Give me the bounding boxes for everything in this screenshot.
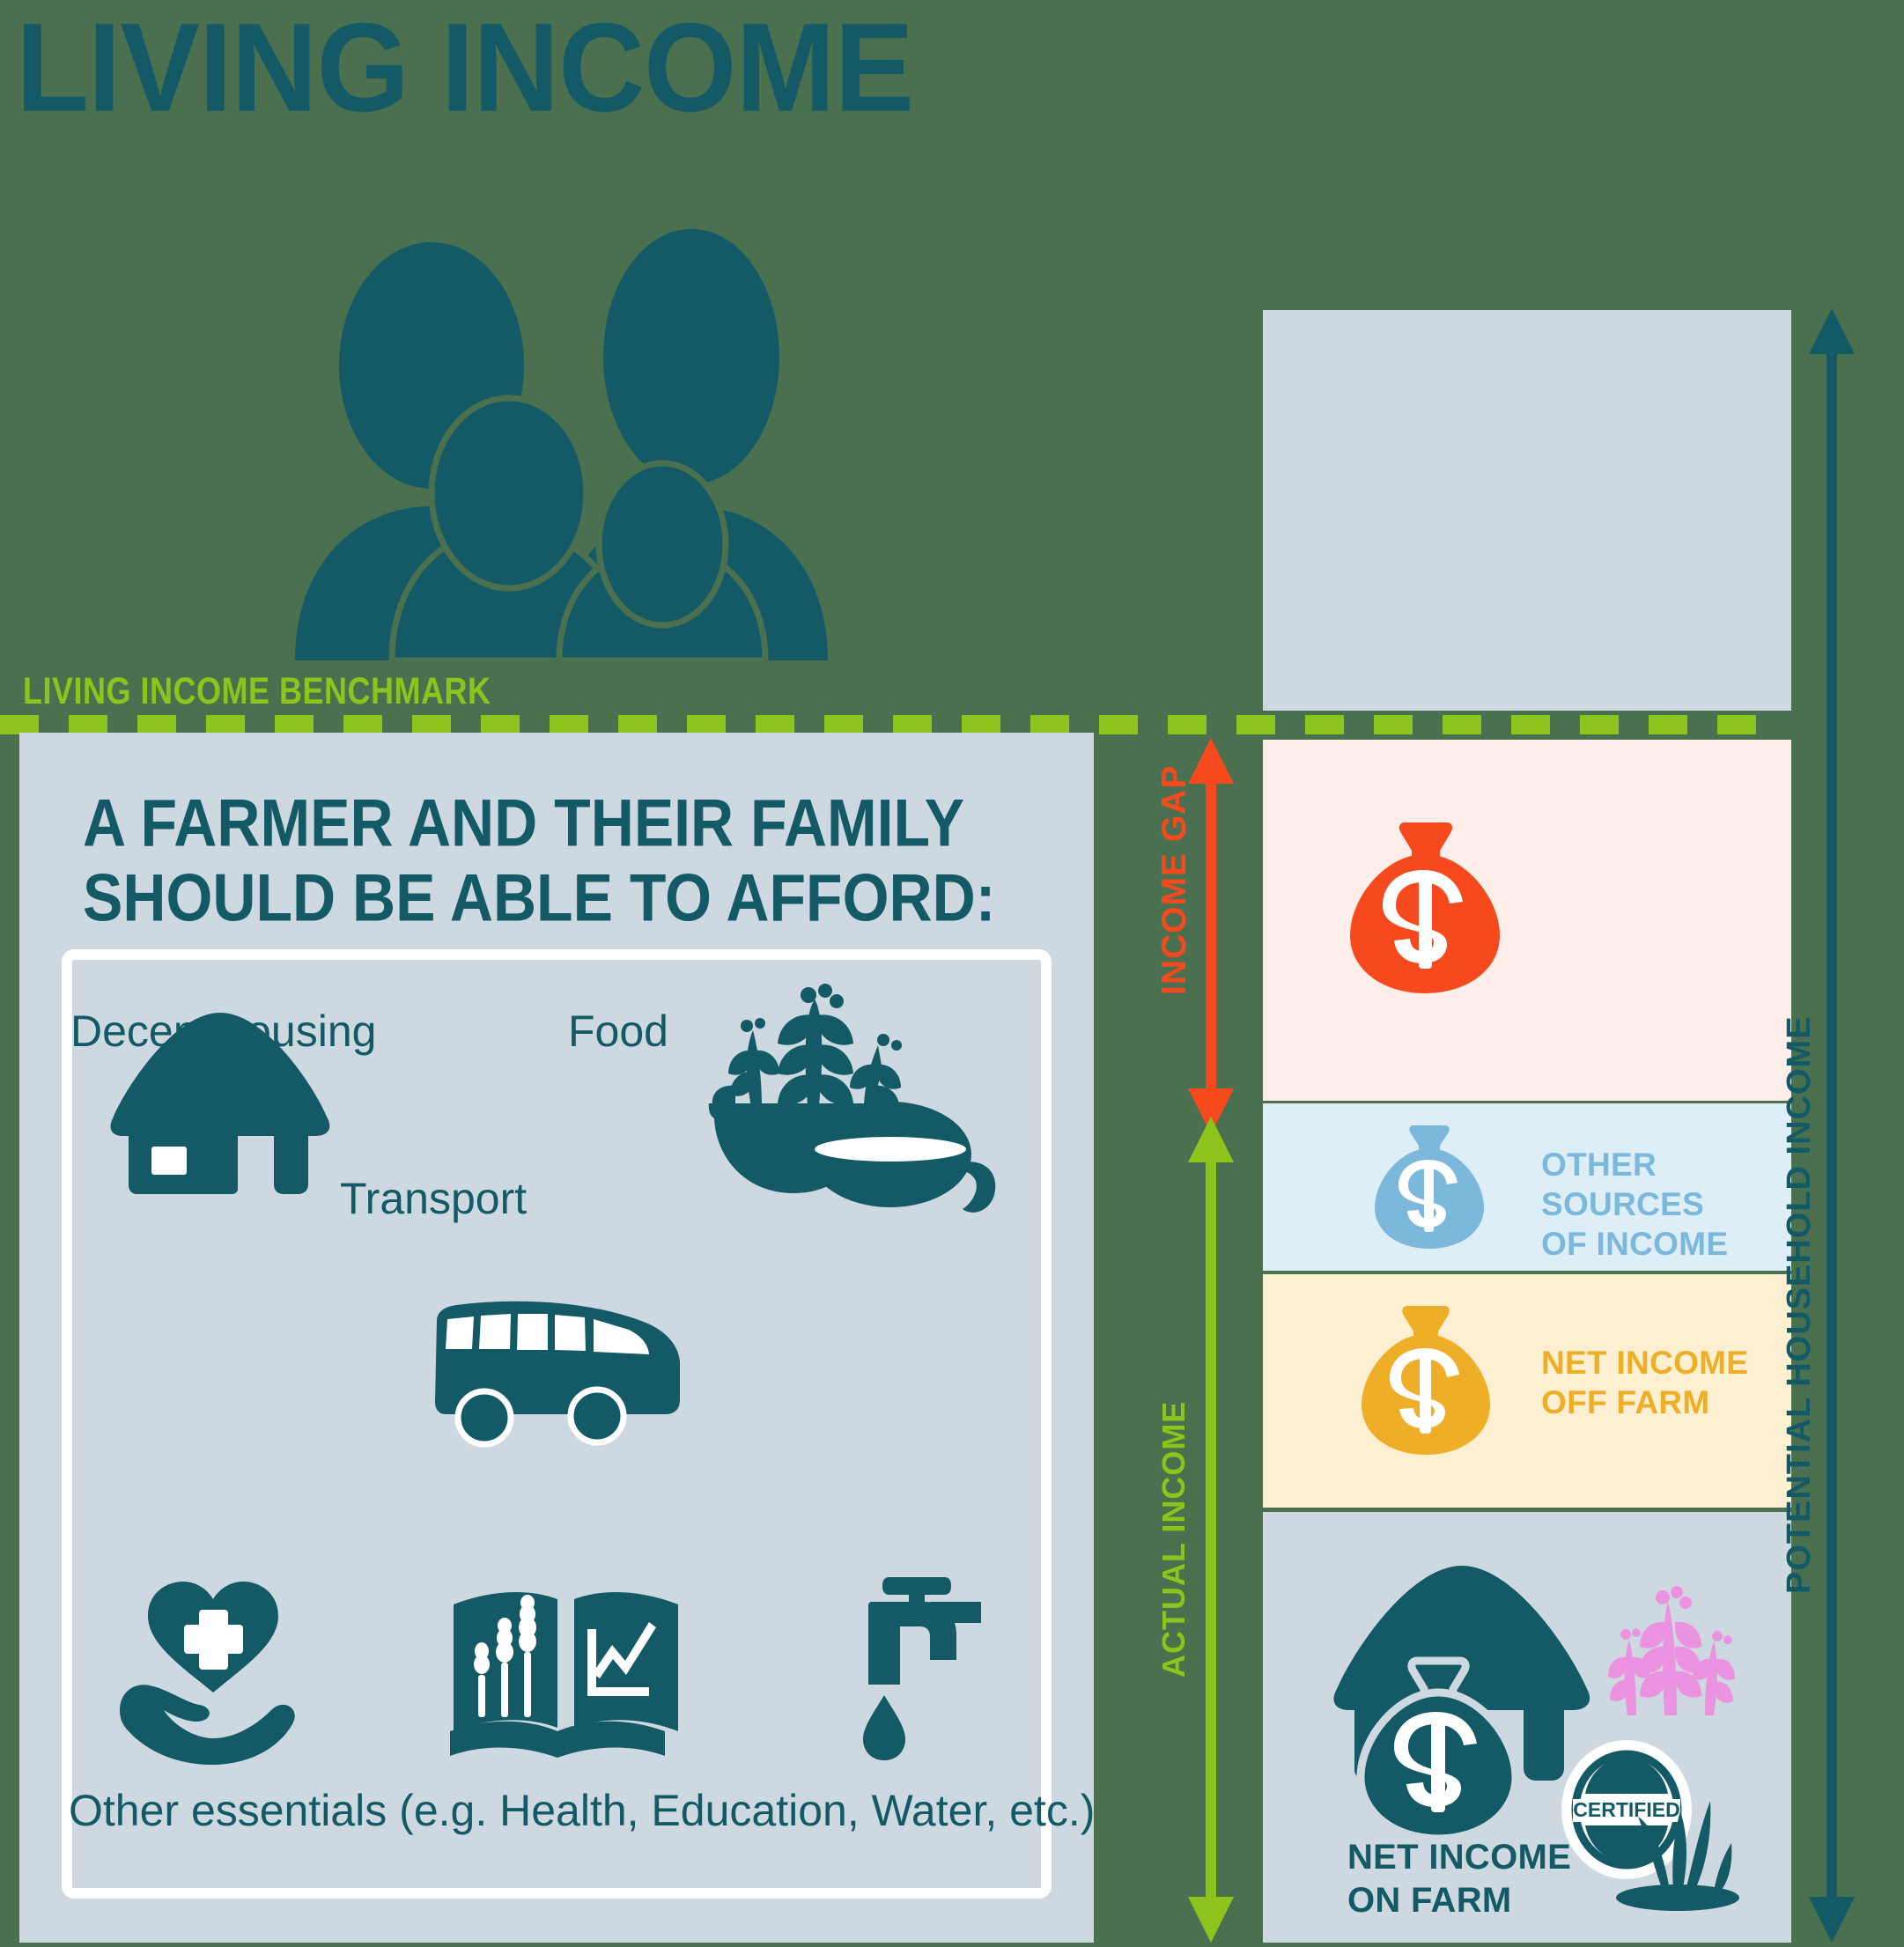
red-money-bag-icon [1341,819,1509,995]
heart-with-cross-in-hand-icon [114,1576,313,1766]
actual-income-label: ACTUAL INCOME [1155,1401,1192,1678]
open-book-icon [445,1576,687,1766]
other-essentials-label: Other essentials (e.g. Health, Education… [69,1785,1095,1836]
teal-plant-icon [1612,1792,1744,1911]
bowl-of-grain-and-cup-icon [691,973,1000,1228]
actual-income-arrow [1184,1117,1237,1943]
pink-plant-icon [1605,1585,1737,1717]
food-label: Food [568,1006,668,1057]
bus-icon [421,1294,703,1453]
family-group-icon [247,203,881,660]
yellow-money-bag-icon [1354,1303,1495,1457]
potential-income-top-box [1263,310,1791,711]
income-gap-label: INCOME GAP [1155,765,1194,995]
benchmark-dashed-divider [0,715,1761,734]
living-income-benchmark-label: LIVING INCOME BENCHMARK [23,669,491,713]
blue-money-bag-icon [1369,1123,1488,1250]
teal-money-bag-icon [1352,1656,1524,1845]
potential-household-income-label: POTENTIAL HOUSEHOLD INCOME [1781,1015,1819,1594]
transport-label: Transport [340,1173,527,1224]
net-income-on-farm-label: NET INCOME ON FARM [1347,1836,1571,1922]
infographic-canvas: LIVING INCOME LIVING INCOME BENCHMARK A … [0,0,1904,1943]
water-tap-icon [845,1572,986,1766]
net-income-off-farm-label: NET INCOME OFF FARM [1541,1343,1748,1422]
other-sources-of-income-label: OTHER SOURCES OF INCOME [1541,1145,1728,1264]
page-title: LIVING INCOME [16,5,913,131]
decent-housing-label: Decent housing [70,1006,376,1057]
panel-heading: A FARMER AND THEIR FAMILY SHOULD BE ABLE… [83,785,1052,936]
